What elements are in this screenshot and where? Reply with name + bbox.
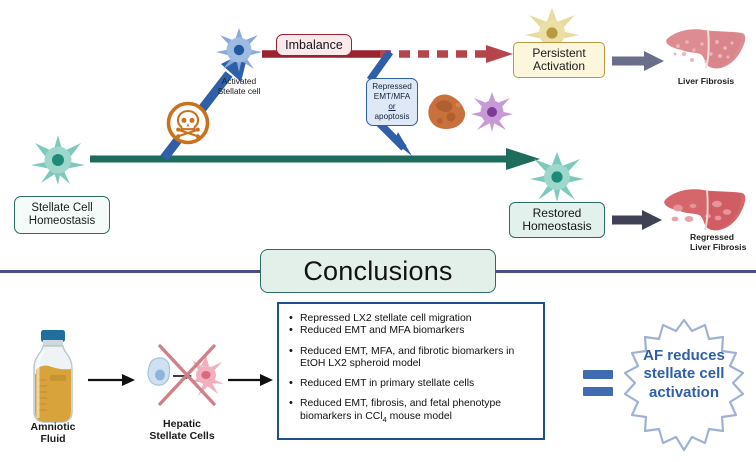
conclusions-heading: Conclusions [260,249,496,293]
liver-icon [662,26,746,80]
purple-stellate-cell-icon [471,92,513,132]
divider-left [0,270,264,273]
activated-stellate-cell-icon [216,28,262,72]
hepatic-stellate-cells-icon [140,340,224,412]
bullet-item-2: Reduced EMT and MFA biomarkers [287,325,533,337]
conclusions-bullet-panel: Repressed LX2 stellate cell migration Re… [277,302,545,440]
regressed-liver-arrow [612,209,664,231]
repressed-line-3: or [388,102,395,112]
restored-homeostasis-label: Restored Homeostasis [509,202,605,238]
equals-icon-bottom [583,387,613,396]
amniotic-fluid-bottle-icon [24,330,82,426]
regressed-liver-fibrosis-caption: Regressed Liver Fibrosis [660,232,756,253]
conclusions-bullet-list: Repressed LX2 stellate cell migration Re… [287,313,533,424]
persistent-activation-label: Persistent Activation [513,42,605,78]
restored-stellate-cell-icon [530,152,584,202]
hepatic-stellate-cells-label: Hepatic Stellate Cells [134,418,230,443]
outcome-label: AF reduces stellate cell activation [628,347,740,402]
skull-and-crossbones-icon [165,100,211,146]
repressed-line-1: Repressed [372,82,412,92]
liver-fibrosis-caption: Liver Fibrosis [664,76,748,86]
graphical-abstract: Activated Stellate cell Stellate Cell Ho… [0,0,756,462]
repressed-line-2: EMT/MFA [374,92,410,102]
imbalance-label: Imbalance [276,34,352,56]
repressed-line-4: apoptosis [374,112,409,122]
bottom-arrow-1 [88,372,136,388]
activated-stellate-cell-caption: Activated Stellate cell [203,76,275,96]
bullet-item-1: Repressed LX2 stellate cell migration [287,313,533,325]
bullet-item-4: Reduced EMT in primary stellate cells [287,378,533,390]
stellate-cell-icon [30,133,86,185]
apoptotic-cell-icon [425,93,467,133]
repressed-emt-mfa-box: Repressed EMT/MFA or apoptosis [366,78,418,126]
bullet-item-5: Reduced EMT, fibrosis, and fetal phenoty… [287,398,533,424]
bullet-item-3: Reduced EMT, MFA, and fibrotic biomarker… [287,346,533,371]
divider-right [492,270,756,273]
amniotic-fluid-label: Amniotic Fluid [16,421,90,446]
equals-icon-top [583,370,613,379]
liver-fibrosis-arrow [612,50,666,72]
stellate-cell-homeostasis-label: Stellate Cell Homeostasis [14,196,110,234]
bottom-arrow-2 [228,372,274,388]
